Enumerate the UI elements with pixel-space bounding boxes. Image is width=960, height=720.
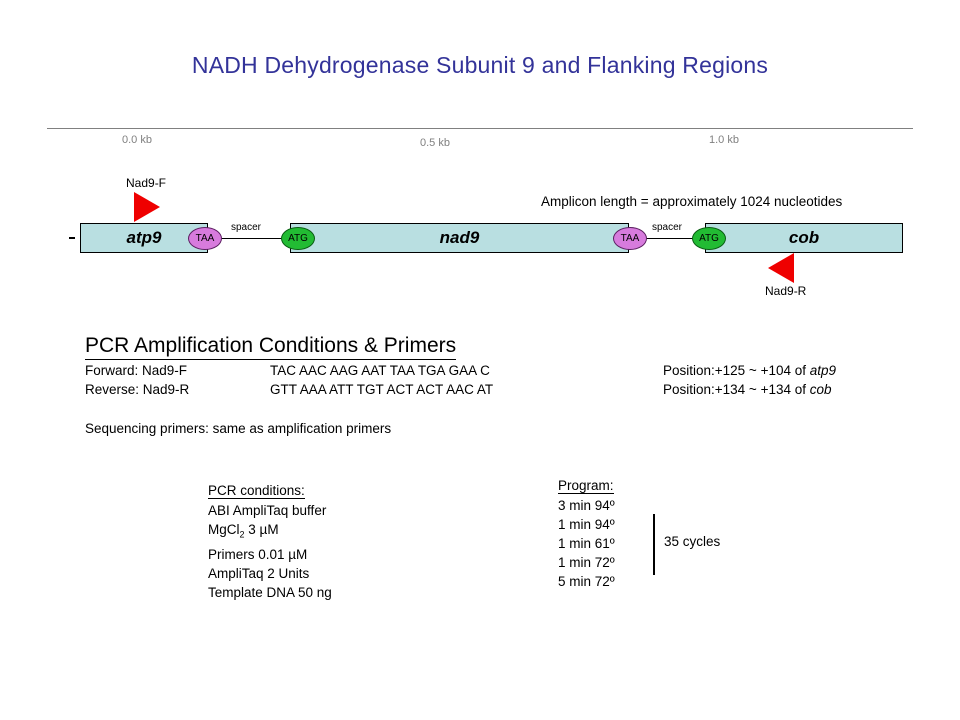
program-step-5: 5 min 72º — [558, 572, 615, 591]
cycles-bracket — [653, 514, 655, 575]
condition-line-template: Template DNA 50 ng — [208, 583, 332, 602]
pcr-program-block: Program: 3 min 94º 1 min 94º 1 min 61º 1… — [558, 477, 615, 591]
gene-label-nad9: nad9 — [440, 228, 480, 248]
start-codon-marker-2[interactable]: ATG — [692, 227, 726, 250]
forward-primer-arrow-icon — [134, 192, 160, 222]
spacer-connector-1 — [210, 238, 290, 239]
pcr-program-heading: Program: — [558, 478, 614, 494]
amplicon-length-note: Amplicon length = approximately 1024 nuc… — [541, 194, 842, 209]
program-step-2: 1 min 94º — [558, 515, 615, 534]
reverse-position-text: Position:+134 ~ +134 of — [663, 382, 810, 397]
sequencing-primers-note: Sequencing primers: same as amplificatio… — [85, 421, 391, 436]
forward-primer-position: Position:+125 ~ +104 of atp9 — [663, 363, 836, 378]
header-divider — [47, 128, 913, 129]
map-left-tick — [69, 237, 75, 239]
primer-label-forward: Nad9-F — [126, 176, 166, 190]
condition-line-amplitaq: AmpliTaq 2 Units — [208, 564, 332, 583]
mgcl2-suffix: 3 µM — [245, 522, 279, 537]
slide-canvas: { "slide": { "title": "NADH Dehydrogenas… — [0, 0, 960, 720]
gene-label-atp9: atp9 — [127, 228, 162, 248]
forward-position-gene: atp9 — [810, 363, 836, 378]
pcr-conditions-heading: PCR conditions: — [208, 483, 305, 499]
spacer-label-1: spacer — [231, 222, 261, 233]
forward-primer-sequence: TAC AAC AAG AAT TAA TGA GAA C — [270, 363, 490, 378]
reverse-position-gene: cob — [810, 382, 832, 397]
start-codon-marker-1[interactable]: ATG — [281, 227, 315, 250]
condition-line-primers: Primers 0.01 µM — [208, 545, 332, 564]
reverse-primer-position: Position:+134 ~ +134 of cob — [663, 382, 832, 397]
gene-label-cob: cob — [789, 228, 819, 248]
condition-line-mgcl2: MgCl2 3 µM — [208, 520, 332, 545]
cycles-label: 35 cycles — [664, 534, 720, 549]
program-step-3: 1 min 61º — [558, 534, 615, 553]
condition-line-buffer: ABI AmpliTaq buffer — [208, 501, 332, 520]
pcr-section-heading: PCR Amplification Conditions & Primers — [85, 334, 456, 360]
pcr-conditions-block: PCR conditions: ABI AmpliTaq buffer MgCl… — [208, 482, 332, 602]
gene-box-nad9[interactable]: nad9 — [290, 223, 629, 253]
spacer-label-2: spacer — [652, 222, 682, 233]
scale-tick-10kb: 1.0 kb — [709, 134, 739, 146]
forward-primer-name: Forward: Nad9-F — [85, 363, 187, 378]
gene-box-cob[interactable]: cob — [705, 223, 903, 253]
page-title: NADH Dehydrogenase Subunit 9 and Flankin… — [0, 52, 960, 79]
forward-position-text: Position:+125 ~ +104 of — [663, 363, 810, 378]
reverse-primer-sequence: GTT AAA ATT TGT ACT ACT AAC AT — [270, 382, 493, 397]
primer-label-reverse: Nad9-R — [765, 284, 806, 298]
program-step-1: 3 min 94º — [558, 496, 615, 515]
reverse-primer-arrow-icon — [768, 253, 794, 283]
stop-codon-marker-2[interactable]: TAA — [613, 227, 647, 250]
stop-codon-marker-1[interactable]: TAA — [188, 227, 222, 250]
program-step-4: 1 min 72º — [558, 553, 615, 572]
scale-tick-05kb: 0.5 kb — [420, 137, 450, 149]
mgcl2-prefix: MgCl — [208, 522, 240, 537]
reverse-primer-name: Reverse: Nad9-R — [85, 382, 189, 397]
scale-tick-0kb: 0.0 kb — [122, 134, 152, 146]
